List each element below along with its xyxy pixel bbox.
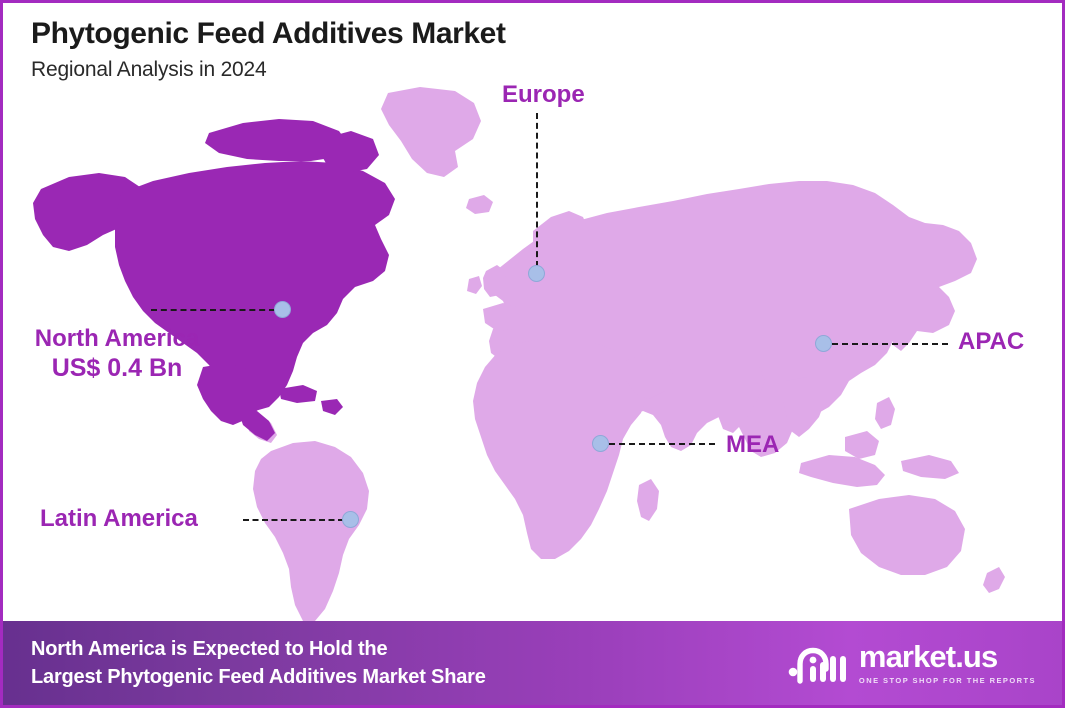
region-label-north-america-value: US$ 0.4 Bn <box>17 353 217 383</box>
banner-headline-line1: North America is Expected to Hold the <box>31 635 486 663</box>
page-subtitle: Regional Analysis in 2024 <box>31 58 506 82</box>
page-title: Phytogenic Feed Additives Market <box>31 17 506 52</box>
map-shape-ireland <box>467 276 482 294</box>
brand-wordmark: market.us ONE STOP SHOP FOR THE REPORTS <box>859 641 1036 685</box>
brand-name: market.us <box>859 641 997 672</box>
bottom-banner: North America is Expected to Hold the La… <box>3 621 1062 705</box>
map-shape-africa <box>473 339 647 559</box>
map-shape-south-america <box>253 441 369 621</box>
region-label-apac[interactable]: APAC <box>958 328 1024 356</box>
brand-logo[interactable]: market.us ONE STOP SHOP FOR THE REPORTS <box>786 641 1036 685</box>
banner-headline-line2: Largest Phytogenic Feed Additives Market… <box>31 663 486 691</box>
brand-tagline: ONE STOP SHOP FOR THE REPORTS <box>859 676 1036 685</box>
map-region-north-america-highlight[interactable] <box>33 119 395 441</box>
banner-headline: North America is Expected to Hold the La… <box>31 635 486 692</box>
region-label-mea[interactable]: MEA <box>726 431 779 459</box>
map-marker-europe[interactable] <box>528 265 545 282</box>
region-label-apac-name: APAC <box>958 328 1024 356</box>
map-shape-borneo <box>845 431 879 459</box>
region-label-europe-name: Europe <box>502 81 585 109</box>
map-marker-mea[interactable] <box>592 435 609 452</box>
map-shape-greenland <box>381 87 481 177</box>
map-shape-new-guinea <box>901 455 959 479</box>
map-shape-new-zealand <box>983 567 1005 593</box>
region-label-europe[interactable]: Europe <box>502 81 585 109</box>
map-shape-iceland <box>466 195 493 214</box>
region-label-north-america-name: North America <box>17 325 217 353</box>
region-label-mea-name: MEA <box>726 431 779 459</box>
map-marker-north-america[interactable] <box>274 301 291 318</box>
map-shape-philippines <box>875 397 895 429</box>
region-label-latin-america[interactable]: Latin America <box>40 505 198 533</box>
market-us-logo-icon <box>786 641 848 685</box>
map-marker-apac[interactable] <box>815 335 832 352</box>
map-marker-latin-america[interactable] <box>342 511 359 528</box>
header: Phytogenic Feed Additives Market Regiona… <box>31 17 506 82</box>
map-shape-australia <box>849 495 965 575</box>
map-shape-hispaniola <box>321 399 343 415</box>
map-shape-madagascar <box>637 479 659 521</box>
infographic-container: Phytogenic Feed Additives Market Regiona… <box>0 0 1065 708</box>
region-label-north-america[interactable]: North America US$ 0.4 Bn <box>17 325 217 383</box>
map-shape-indonesia <box>799 455 885 487</box>
region-label-latin-america-name: Latin America <box>40 505 198 533</box>
